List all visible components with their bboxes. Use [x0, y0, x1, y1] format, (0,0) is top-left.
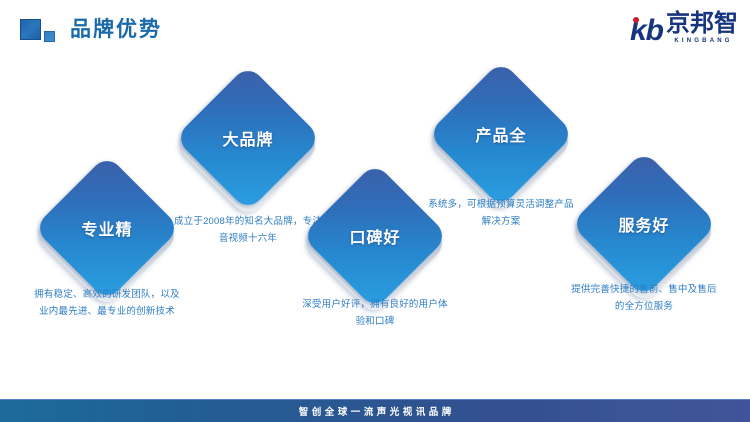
diamond-3-label: 口碑好	[323, 184, 427, 288]
advantages-stage: 专业精 拥有稳定、高效的研发团队，以及业内最先进、最专业的创新技术 大品牌 成立…	[0, 0, 750, 395]
diamond-3[interactable]: 口碑好	[323, 184, 427, 288]
advantage-description-4: 系统多，可根据预算灵活调整产品解决方案	[426, 196, 576, 230]
advantage-description-3: 深受用户好评，拥有良好的用户体验和口碑	[300, 296, 450, 330]
advantage-description-5: 提供完善快捷的售前、售中及售后的全方位服务	[569, 281, 719, 315]
diamond-5-label: 服务好	[592, 172, 696, 276]
diamond-2-label: 大品牌	[196, 86, 300, 190]
diamond-1-label: 专业精	[55, 176, 159, 280]
footer-bar: 智创全球一流声光视讯品牌	[0, 399, 750, 422]
diamond-4-label: 产品全	[449, 82, 553, 186]
diamond-1[interactable]: 专业精	[55, 176, 159, 280]
diamond-2[interactable]: 大品牌	[196, 86, 300, 190]
diamond-4[interactable]: 产品全	[449, 82, 553, 186]
advantage-description-1: 拥有稳定、高效的研发团队，以及业内最先进、最专业的创新技术	[32, 286, 182, 320]
diamond-5[interactable]: 服务好	[592, 172, 696, 276]
footer-slogan: 智创全球一流声光视讯品牌	[295, 404, 455, 418]
advantage-description-2: 成立于2008年的知名大品牌，专注音视频十六年	[173, 213, 323, 247]
